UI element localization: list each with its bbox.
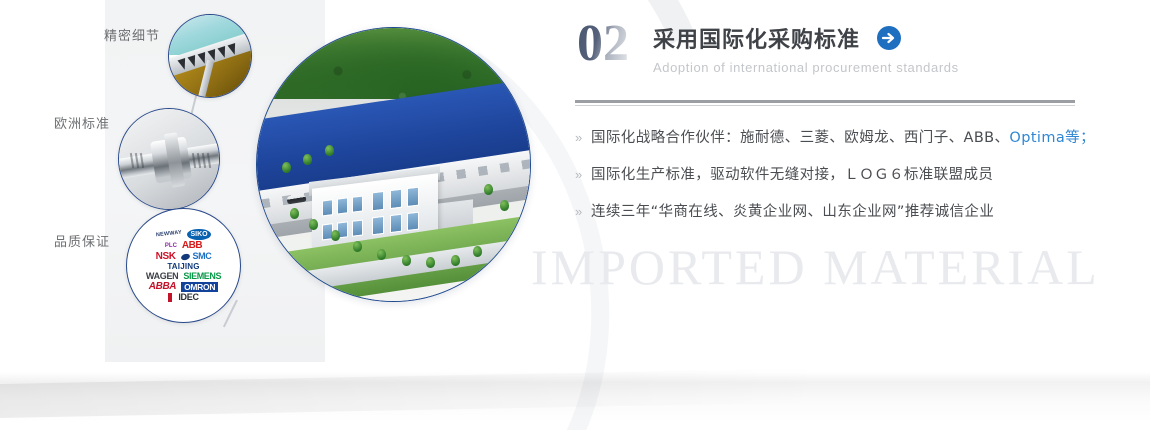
callout-label-european: 欧洲标准 <box>54 113 110 132</box>
watermark-text: IMPORTED MATERIAL <box>531 238 1100 296</box>
list-item-text-main: 国际化生产标准，驱动软件无缝对接，ＬＯＧ６标准联盟成员 <box>591 167 993 183</box>
scene-tree <box>500 200 509 211</box>
header-divider <box>575 100 1075 106</box>
scene-tree <box>303 154 312 165</box>
logo-abba: ABBA <box>149 282 176 292</box>
office-window <box>352 219 363 236</box>
section-header: 02 采用国际化采购标准 Adoption of international p… <box>575 22 1095 90</box>
scene-tree <box>473 246 482 257</box>
feature-list: » 国际化战略合作伙伴：施耐德、三菱、欧姆龙、西门子、ABB、Optima等； … <box>575 126 1095 221</box>
scene-tree <box>353 241 362 252</box>
callout-label-quality: 品质保证 <box>54 231 110 250</box>
logo-plc: PLC <box>165 243 177 249</box>
office-window <box>352 195 363 212</box>
office-window <box>372 191 384 211</box>
content-column: 02 采用国际化采购标准 Adoption of international p… <box>575 22 1095 237</box>
list-item-text: 国际化战略合作伙伴：施耐德、三菱、欧姆龙、西门子、ABB、Optima等； <box>591 126 1095 147</box>
idec-bar-icon <box>168 293 172 302</box>
list-item: » 国际化生产标准，驱动软件无缝对接，ＬＯＧ６标准联盟成员 <box>575 163 1095 184</box>
logo-smc: SMC <box>193 252 212 261</box>
office-window <box>372 216 384 236</box>
brand-row: NSK SMC <box>156 252 212 262</box>
list-item: » 国际化战略合作伙伴：施耐德、三菱、欧姆龙、西门子、ABB、Optima等； <box>575 126 1095 147</box>
factory-scene <box>257 28 530 301</box>
divider-line-thick <box>575 100 1075 103</box>
brand-row: IDEC <box>168 293 198 302</box>
office-window <box>407 211 419 231</box>
logo-wagen: WAGEN <box>146 272 179 281</box>
scene-tree <box>309 219 318 230</box>
bubble-precision-detail <box>168 14 252 98</box>
bubble-factory-aerial <box>256 27 531 302</box>
scene-tree <box>484 184 493 195</box>
smc-mark-icon <box>180 253 190 261</box>
brand-row: TAIJING <box>167 263 199 271</box>
scene-tree <box>377 249 386 260</box>
logo-taijing: TAIJING <box>167 263 199 271</box>
bullet-marker-icon: » <box>575 205 591 218</box>
scene-tree <box>290 208 299 219</box>
office-window <box>337 197 348 214</box>
logo-nsk: NSK <box>156 252 176 262</box>
callout-label-precision: 精密细节 <box>104 25 160 44</box>
scene-tree <box>331 230 340 241</box>
scene-tree <box>451 255 460 266</box>
section-number: 02 <box>577 18 629 70</box>
divider-line-thin <box>575 105 1075 106</box>
page-title: 采用国际化采购标准 <box>653 22 860 54</box>
bottom-shadow-band <box>0 372 1150 430</box>
bullet-marker-icon: » <box>575 131 591 144</box>
list-item-text: 连续三年“华商在线、炎黄企业网、山东企业网”推荐诚信企业 <box>591 200 994 221</box>
brand-row: WAGEN SIEMENS <box>146 272 221 281</box>
logo-siemens: SIEMENS <box>183 272 221 281</box>
office-window <box>322 199 333 216</box>
list-item-text-highlight: Optima等； <box>1009 130 1095 146</box>
list-item: » 连续三年“华商在线、炎黄企业网、山东企业网”推荐诚信企业 <box>575 200 1095 221</box>
logo-newway: NEWWAY <box>156 230 182 238</box>
bubble-ball-screw <box>118 108 220 210</box>
title-block: 采用国际化采购标准 Adoption of international proc… <box>653 22 959 75</box>
promo-banner: 精密细节 欧洲标准 品质保证 <box>0 0 1150 430</box>
logo-siko: SIKO <box>187 229 210 240</box>
list-item-text-main: 连续三年“华商在线、炎黄企业网、山东企业网”推荐诚信企业 <box>591 204 994 220</box>
logo-idec: IDEC <box>178 293 198 302</box>
scene-tree <box>282 162 291 173</box>
scene-tree <box>402 255 411 266</box>
office-window <box>389 189 401 209</box>
list-item-text: 国际化生产标准，驱动软件无缝对接，ＬＯＧ６标准联盟成员 <box>591 163 993 184</box>
logo-omron: OMRON <box>181 282 218 293</box>
bullet-marker-icon: » <box>575 168 591 181</box>
logo-abb: ABB <box>182 241 202 251</box>
office-window <box>389 214 401 234</box>
brand-grid: NEWWAY SIKO PLC ABB NSK SMC TAIJING WAGE… <box>127 209 240 322</box>
arrow-right-circle-icon[interactable] <box>876 25 902 51</box>
brand-row: NEWWAY SIKO <box>156 229 210 240</box>
office-window <box>407 187 419 207</box>
left-image-panel: 精密细节 欧洲标准 品质保证 <box>0 0 575 400</box>
brand-row: ABBA OMRON <box>149 282 218 293</box>
list-item-text-main: 国际化战略合作伙伴：施耐德、三菱、欧姆龙、西门子、ABB、 <box>591 130 1009 146</box>
bubble-brand-logos: NEWWAY SIKO PLC ABB NSK SMC TAIJING WAGE… <box>126 208 241 323</box>
page-subtitle: Adoption of international procurement st… <box>653 60 959 75</box>
brand-row: PLC ABB <box>165 241 202 251</box>
